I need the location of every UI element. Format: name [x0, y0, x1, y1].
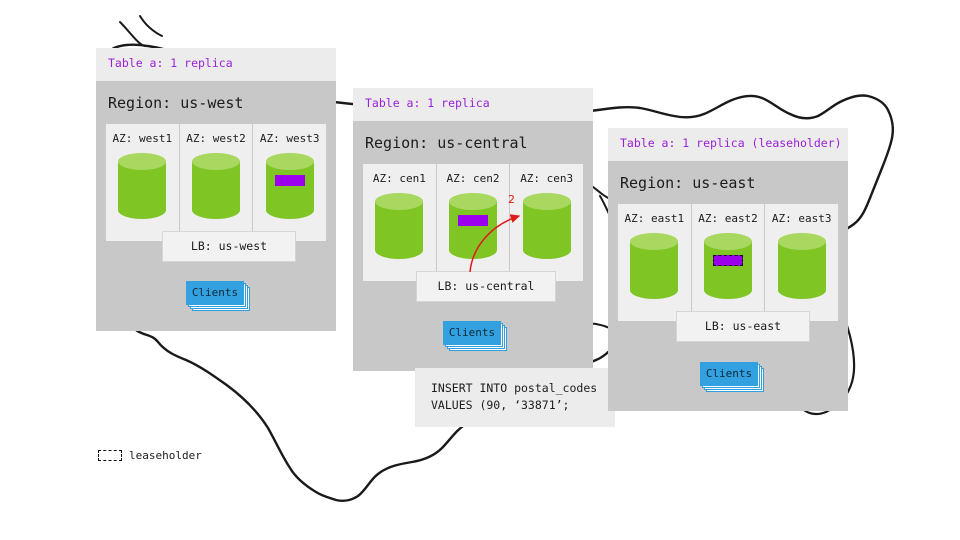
az-cell-east3[interactable]: AZ: east3 [764, 204, 838, 321]
node-cylinder-east2[interactable] [704, 233, 752, 307]
cylinder-top [449, 193, 497, 210]
cylinder-top [266, 153, 314, 170]
clients-stack-us-central[interactable]: Clients [443, 321, 501, 345]
node-cylinder-east3[interactable] [778, 233, 826, 307]
az-label-cen1: AZ: cen1 [363, 172, 436, 185]
cylinder-top [118, 153, 166, 170]
load-balancer-us-east[interactable]: LB: us-east [676, 311, 810, 342]
az-cell-east2[interactable]: AZ: east2 [691, 204, 765, 321]
az-label-west3: AZ: west3 [253, 132, 326, 145]
clients-label-us-west[interactable]: Clients [186, 281, 244, 305]
az-label-cen3: AZ: cen3 [510, 172, 583, 185]
az-cell-cen3[interactable]: AZ: cen3 [509, 164, 583, 281]
az-cell-cen2[interactable]: AZ: cen2 [436, 164, 510, 281]
az-cell-cen1[interactable]: AZ: cen1 [363, 164, 436, 281]
node-cylinder-cen3[interactable] [523, 193, 571, 267]
cylinder-top [192, 153, 240, 170]
node-cylinder-west3[interactable] [266, 153, 314, 227]
az-label-west2: AZ: west2 [180, 132, 253, 145]
az-label-west1: AZ: west1 [106, 132, 179, 145]
cylinder-top [523, 193, 571, 210]
diagram-canvas: Table a: 1 replica Region: us-west AZ: w… [0, 0, 960, 540]
clients-label-us-east[interactable]: Clients [700, 362, 758, 386]
hop-count-label: 2 [508, 193, 515, 206]
az-label-east1: AZ: east1 [618, 212, 691, 225]
cylinder-top [375, 193, 423, 210]
node-cylinder-west2[interactable] [192, 153, 240, 227]
replica-marker-east2-leaseholder [713, 255, 743, 266]
node-cylinder-cen1[interactable] [375, 193, 423, 267]
legend-label: leaseholder [129, 449, 202, 462]
panel-banner-us-west: Table a: 1 replica [96, 48, 336, 81]
az-row-us-east: AZ: east1 AZ: east2 AZ: east3 [618, 204, 838, 321]
legend-leaseholder: leaseholder [98, 449, 202, 462]
node-cylinder-east1[interactable] [630, 233, 678, 307]
panel-banner-us-east: Table a: 1 replica (leaseholder) [608, 128, 848, 161]
cylinder-top [704, 233, 752, 250]
cylinder-top [778, 233, 826, 250]
az-label-cen2: AZ: cen2 [437, 172, 510, 185]
region-title-us-central: Region: us-central [363, 121, 583, 164]
panel-banner-us-central: Table a: 1 replica [353, 88, 593, 121]
az-label-east3: AZ: east3 [765, 212, 838, 225]
sql-statement-box: INSERT INTO postal_codes VALUES (90, ‘33… [415, 368, 615, 427]
load-balancer-us-west[interactable]: LB: us-west [162, 231, 296, 262]
az-cell-east1[interactable]: AZ: east1 [618, 204, 691, 321]
az-row-us-west: AZ: west1 AZ: west2 AZ: west3 [106, 124, 326, 241]
clients-label-us-central[interactable]: Clients [443, 321, 501, 345]
clients-stack-us-west[interactable]: Clients [186, 281, 244, 305]
dashed-rect-icon [98, 450, 122, 461]
replica-marker-cen2 [458, 215, 488, 226]
az-label-east2: AZ: east2 [692, 212, 765, 225]
az-cell-west1[interactable]: AZ: west1 [106, 124, 179, 241]
cylinder-top [630, 233, 678, 250]
az-row-us-central: AZ: cen1 AZ: cen2 AZ: cen3 [363, 164, 583, 281]
az-cell-west2[interactable]: AZ: west2 [179, 124, 253, 241]
load-balancer-us-central[interactable]: LB: us-central [416, 271, 556, 302]
region-title-us-east: Region: us-east [618, 161, 838, 204]
az-cell-west3[interactable]: AZ: west3 [252, 124, 326, 241]
clients-stack-us-east[interactable]: Clients [700, 362, 758, 386]
replica-marker-west3 [275, 175, 305, 186]
node-cylinder-west1[interactable] [118, 153, 166, 227]
node-cylinder-cen2[interactable] [449, 193, 497, 267]
region-title-us-west: Region: us-west [106, 81, 326, 124]
